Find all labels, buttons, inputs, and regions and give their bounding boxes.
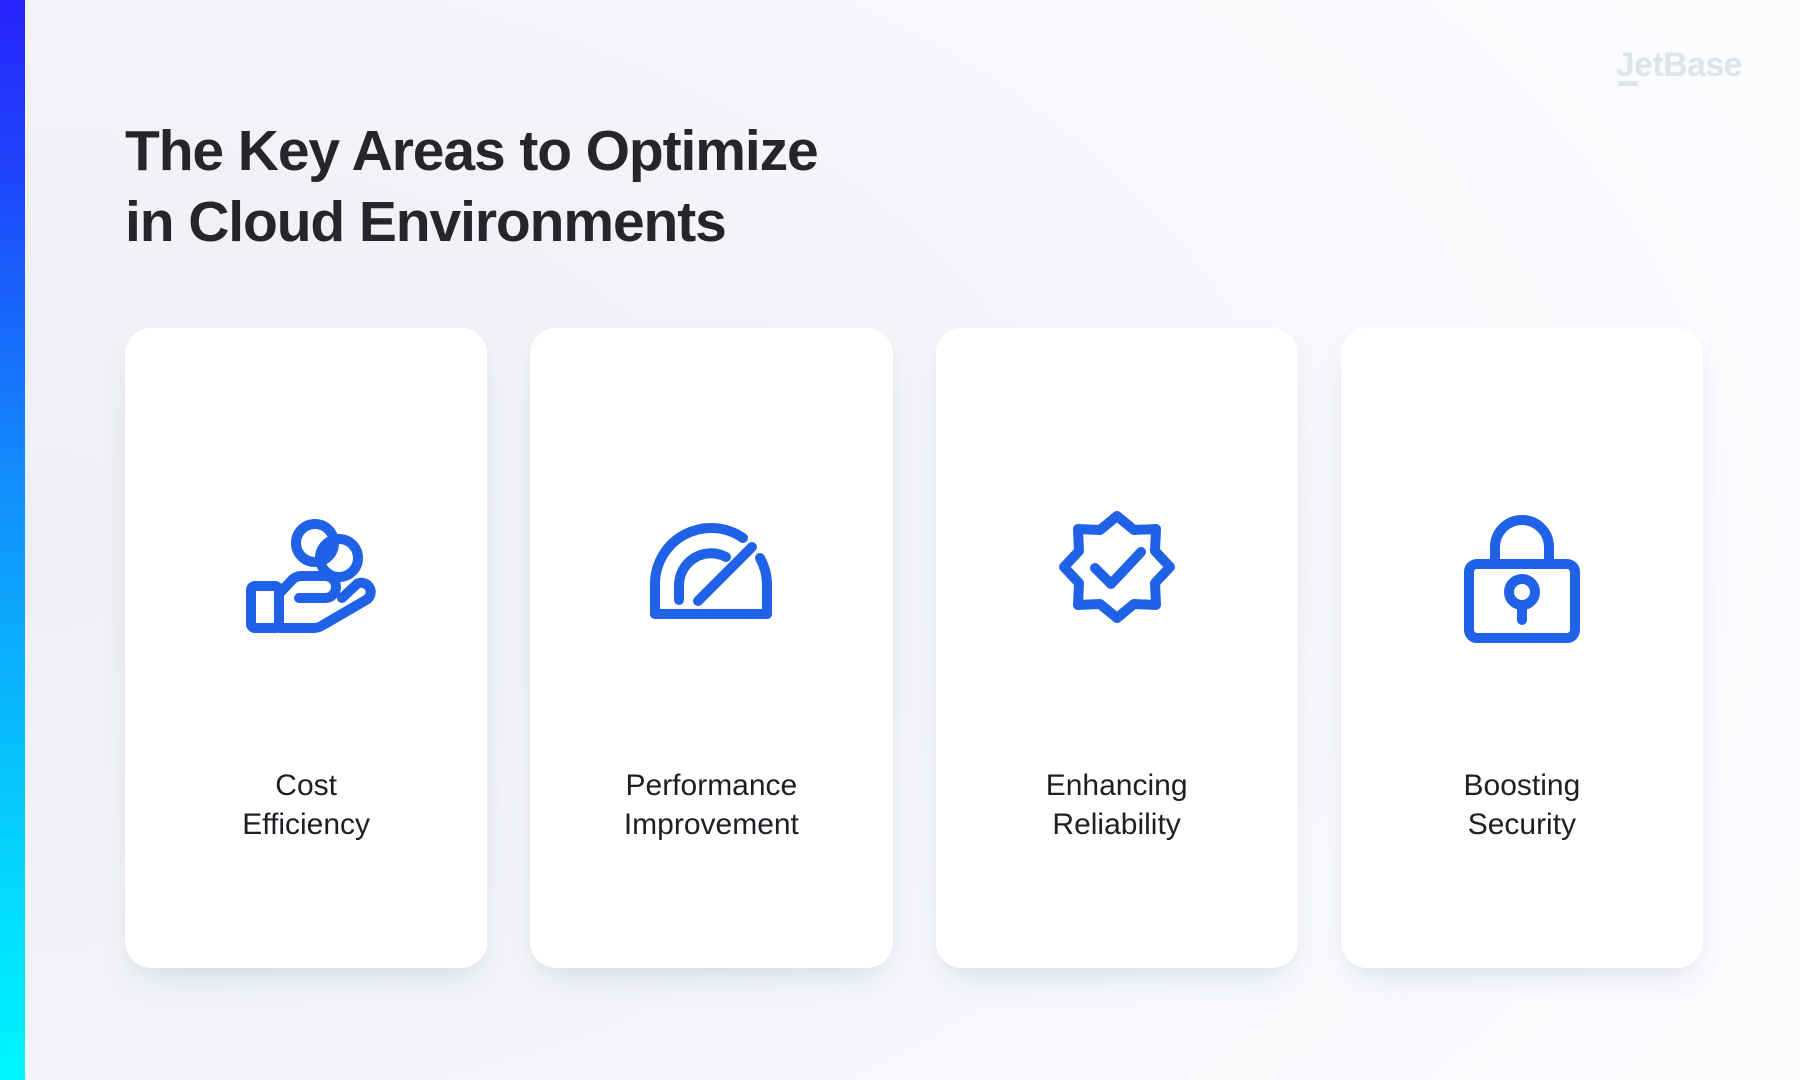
hand-holding-coins-icon	[231, 502, 381, 652]
card-label-enhancing-reliability: Enhancing Reliability	[936, 766, 1298, 844]
card-performance-improvement[interactable]: Performance Improvement	[530, 328, 892, 968]
card-label-boosting-security: Boosting Security	[1341, 766, 1703, 844]
card-cost-efficiency[interactable]: Cost Efficiency	[125, 328, 487, 968]
card-boosting-security[interactable]: Boosting Security	[1341, 328, 1703, 968]
card-label-cost-efficiency: Cost Efficiency	[125, 766, 487, 844]
slide-root: JetBase The Key Areas to Optimize in Clo…	[0, 0, 1800, 1080]
key-areas-card-row: Cost Efficiency Performance Improvement	[125, 328, 1703, 968]
card-enhancing-reliability[interactable]: Enhancing Reliability	[936, 328, 1298, 968]
card-label-performance-improvement: Performance Improvement	[530, 766, 892, 844]
left-accent-gradient-bar	[0, 0, 25, 1080]
verified-badge-check-icon	[1042, 502, 1192, 652]
jetbase-logo: JetBase	[1616, 48, 1742, 82]
page-title: The Key Areas to Optimize in Cloud Envir…	[125, 116, 1225, 257]
jetbase-logo-underline	[1618, 81, 1638, 86]
padlock-icon	[1447, 502, 1597, 652]
speedometer-icon	[636, 502, 786, 652]
jetbase-logo-text: JetBase	[1616, 46, 1742, 84]
